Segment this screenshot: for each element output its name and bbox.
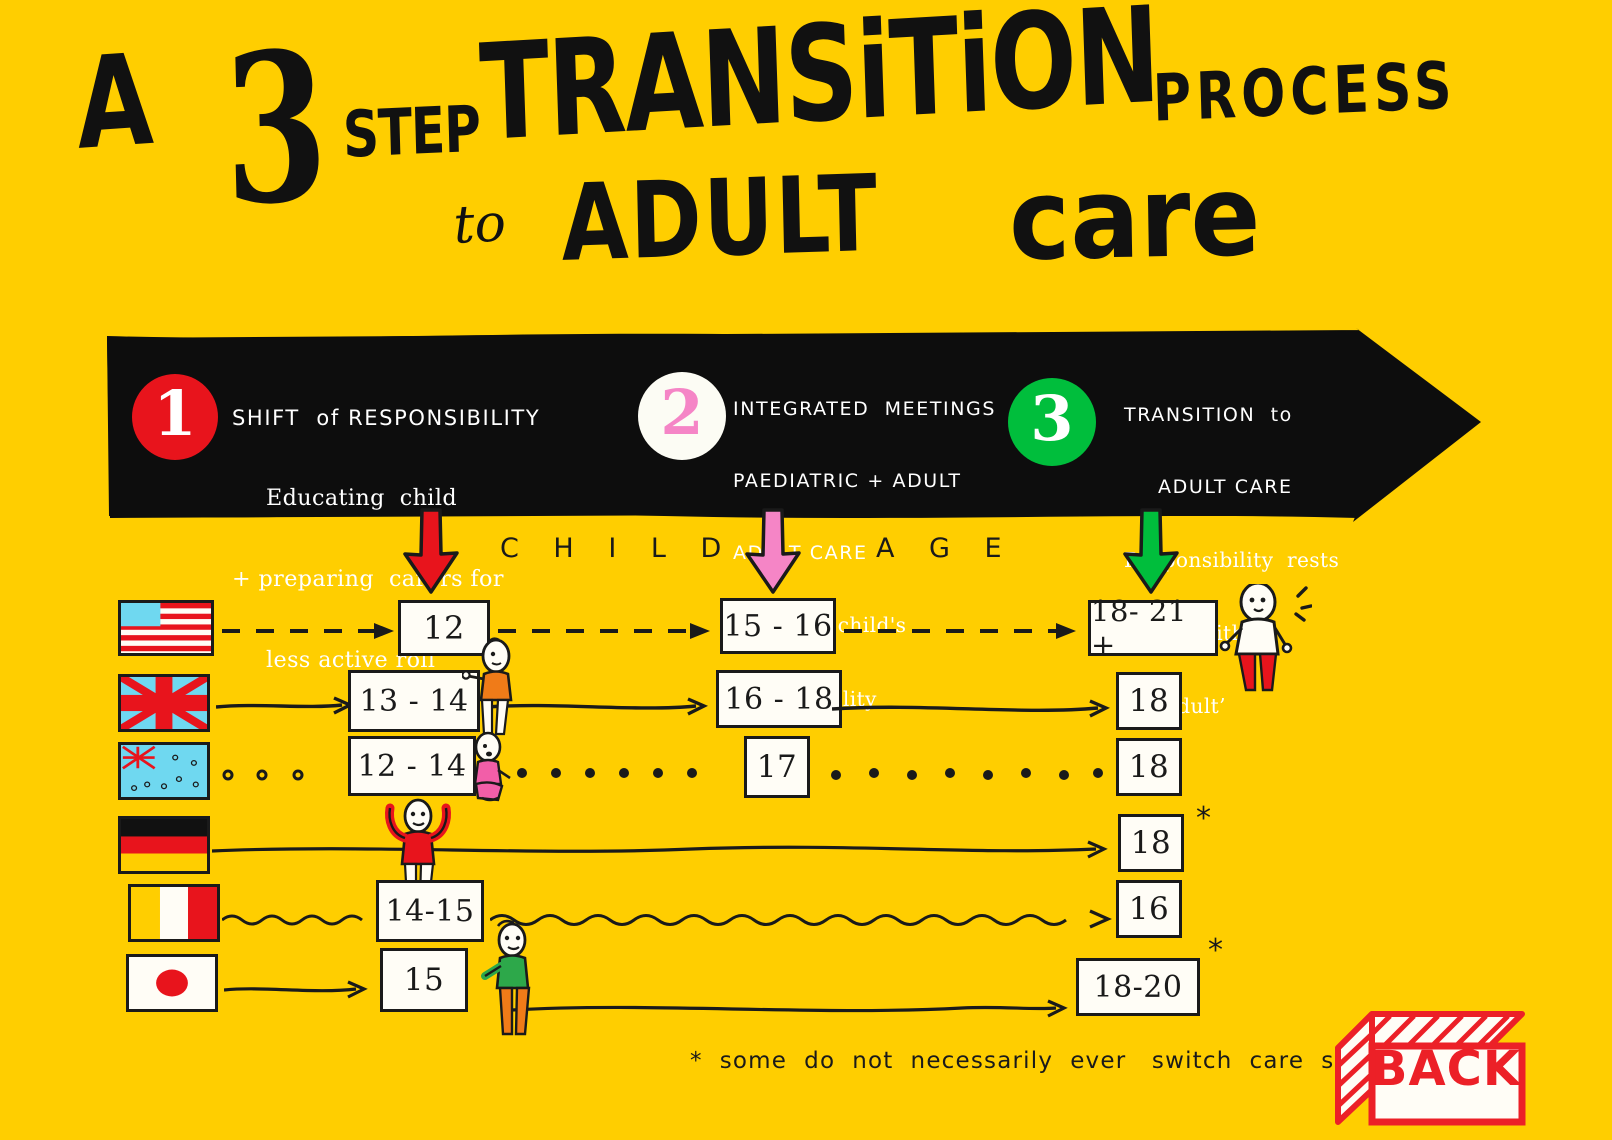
step-3-line-1: ADULT CARE bbox=[1124, 476, 1339, 500]
step-2-heading: INTEGRATED MEETINGS bbox=[733, 398, 996, 422]
connector-wavy bbox=[222, 908, 382, 932]
connector-solid-long bbox=[212, 838, 1122, 860]
flag-france-icon bbox=[128, 884, 220, 942]
flag-japan-icon bbox=[126, 954, 218, 1012]
title-word-process: PROCESS bbox=[1152, 49, 1458, 137]
back-button[interactable] bbox=[1330, 1010, 1530, 1130]
table-row: 13 - 14 16 - 18 18 bbox=[0, 662, 1612, 736]
age-box: 18 bbox=[1118, 814, 1184, 872]
age-box: 18- 21 + bbox=[1088, 600, 1218, 656]
step-number-3: 3 bbox=[1030, 388, 1073, 450]
down-arrow-step-1-icon bbox=[400, 508, 462, 598]
age-box: 13 - 14 bbox=[348, 670, 480, 732]
age-box: 16 - 18 bbox=[716, 670, 842, 728]
connector-wavy bbox=[490, 908, 1120, 932]
down-arrow-step-3-icon bbox=[1120, 508, 1182, 598]
flag-usa-icon bbox=[118, 600, 214, 656]
table-row: 14-15 16 bbox=[0, 874, 1612, 948]
table-row: 12 15 - 16 18- 21 + bbox=[0, 586, 1612, 660]
table-row: 12 - 14 17 18 bbox=[0, 730, 1612, 804]
step-number-1: 1 bbox=[153, 383, 196, 445]
child-figure-pink bbox=[462, 730, 524, 810]
age-box: 18 bbox=[1116, 672, 1182, 730]
age-box: 16 bbox=[1116, 880, 1182, 938]
table-row: 15 18-20 * bbox=[0, 940, 1612, 1014]
title-word-a: A bbox=[74, 37, 155, 168]
table-row: 18 * bbox=[0, 806, 1612, 880]
step-badge-2: 2 bbox=[638, 372, 726, 460]
step-1-heading: SHIFT of RESPONSIBILITY bbox=[232, 405, 540, 431]
title-word-step: STEP bbox=[342, 92, 481, 172]
age-box: 15 bbox=[380, 948, 468, 1012]
down-arrow-step-2-icon bbox=[742, 508, 804, 598]
column-label-child: C H I L D bbox=[500, 533, 734, 564]
flag-australia-icon bbox=[118, 742, 210, 800]
step-number-2: 2 bbox=[660, 382, 703, 444]
connector-solid-long bbox=[512, 996, 1080, 1020]
age-box: 12 - 14 bbox=[348, 736, 476, 796]
infographic-canvas: A 3 STEP TRANSiTiON PROCESS to ADULT car… bbox=[0, 0, 1612, 1140]
age-box: 18 bbox=[1116, 738, 1182, 796]
age-box: 18-20 bbox=[1076, 958, 1200, 1016]
flag-uk-icon bbox=[118, 674, 210, 732]
connector-dashed bbox=[498, 620, 718, 642]
flag-germany-icon bbox=[118, 816, 210, 874]
title-word-adult: ADULT bbox=[560, 152, 880, 285]
age-box: 15 - 16 bbox=[720, 598, 836, 654]
title-word-three: 3 bbox=[222, 25, 330, 235]
step-2-line-1: PAEDIATRIC + ADULT bbox=[733, 470, 996, 494]
page-title: A 3 STEP TRANSiTiON PROCESS to ADULT car… bbox=[0, 0, 1612, 300]
connector-dashed bbox=[222, 620, 402, 642]
footnote-marker: * bbox=[1196, 804, 1211, 834]
connector-dotted bbox=[826, 764, 1116, 782]
connector-solid bbox=[832, 698, 1120, 720]
column-label-age: A G E bbox=[876, 533, 1015, 564]
title-word-care: care bbox=[1008, 151, 1261, 286]
age-box: 14-15 bbox=[376, 880, 484, 942]
title-word-to: to bbox=[452, 193, 507, 256]
step-badge-3: 3 bbox=[1008, 378, 1096, 466]
footnote-marker: * bbox=[1208, 936, 1223, 966]
child-figure-orange bbox=[462, 634, 528, 744]
step-3-heading: TRANSITION to bbox=[1124, 404, 1339, 428]
step-badge-1: 1 bbox=[132, 374, 218, 460]
teen-figure-green bbox=[480, 918, 556, 1046]
title-word-transition: TRANSiTiON bbox=[478, 0, 1161, 161]
connector-dotted bbox=[512, 764, 728, 782]
connector-dotted bbox=[216, 766, 344, 784]
connector-solid bbox=[216, 694, 364, 716]
footnote-text: * some do not necessarily ever switch ca… bbox=[690, 1048, 1409, 1074]
connector-solid bbox=[224, 978, 378, 1000]
connector-dashed bbox=[844, 620, 1084, 642]
step-1-line-1: Educating child bbox=[232, 484, 540, 512]
age-box: 17 bbox=[744, 736, 810, 798]
